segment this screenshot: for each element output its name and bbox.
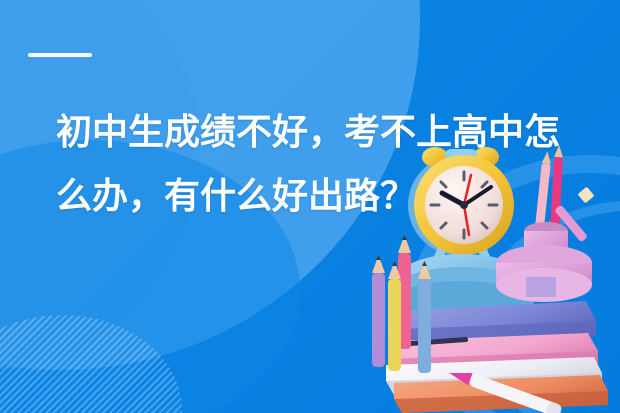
clock-center-pin — [460, 201, 468, 209]
pencil-blue — [418, 279, 431, 373]
study-desk-illustration — [350, 143, 620, 413]
pencil-yellow — [388, 279, 401, 371]
pencil-purple — [372, 273, 385, 367]
holder-brush-tip — [578, 187, 595, 204]
pencil-purple-lead — [376, 255, 381, 260]
holder-pencil-magenta — [550, 157, 563, 233]
holder-pencil-magenta-tip — [554, 145, 564, 157]
holder-base-accent — [526, 277, 556, 297]
pencil-holder — [496, 145, 594, 302]
pencil-pink-lead — [402, 235, 407, 240]
banner-root: 初中生成绩不好，考不上高中怎么办，有什么好出路？ — [0, 0, 620, 413]
holder-pencil-peach-tip — [542, 151, 552, 164]
accent-rule — [28, 53, 92, 57]
pencil-yellow-lead — [392, 261, 397, 266]
